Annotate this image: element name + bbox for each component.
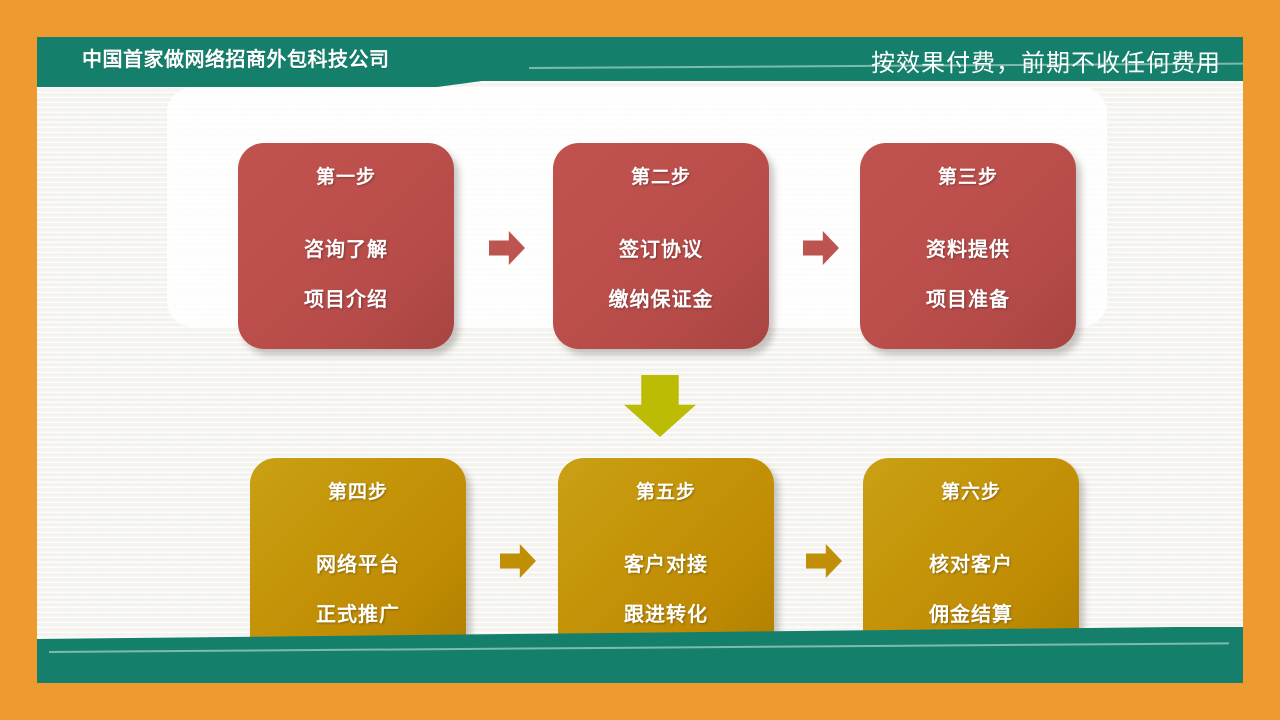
step-card-4-title: 第四步: [250, 480, 466, 506]
step-card-1-body: 咨询了解 项目介绍: [238, 225, 454, 325]
step-card-1-line1: 咨询了解: [238, 225, 454, 275]
step-card-4[interactable]: 第四步 网络平台 正式推广: [250, 458, 466, 664]
arrow-right-icon: [806, 544, 842, 578]
step-card-5-body: 客户对接 跟进转化: [558, 540, 774, 640]
step-card-1-title: 第一步: [238, 165, 454, 191]
slide-canvas: 中国首家做网络招商外包科技公司 第一步 咨询了解 项目介绍 第二步 签订协议 缴…: [37, 37, 1243, 683]
step-card-2-line1: 签订协议: [553, 225, 769, 275]
footer-hairline-divider: [49, 642, 1229, 653]
arrow-right-icon: [500, 544, 536, 578]
step-card-6-line1: 核对客户: [863, 540, 1079, 590]
slide-root: 中国首家做网络招商外包科技公司 第一步 咨询了解 项目介绍 第二步 签订协议 缴…: [0, 0, 1280, 720]
step-card-3-body: 资料提供 项目准备: [860, 225, 1076, 325]
step-card-4-body: 网络平台 正式推广: [250, 540, 466, 640]
step-card-5-line1: 客户对接: [558, 540, 774, 590]
step-card-3[interactable]: 第三步 资料提供 项目准备: [860, 143, 1076, 349]
step-card-6-body: 核对客户 佣金结算: [863, 540, 1079, 640]
footer-tagline: 按效果付费，前期不收任何费用: [871, 43, 1221, 85]
step-card-1-line2: 项目介绍: [238, 275, 454, 325]
step-card-2-title: 第二步: [553, 165, 769, 191]
step-card-6-title: 第六步: [863, 480, 1079, 506]
step-card-3-line1: 资料提供: [860, 225, 1076, 275]
step-card-2[interactable]: 第二步 签订协议 缴纳保证金: [553, 143, 769, 349]
step-card-4-line2: 正式推广: [250, 590, 466, 640]
step-card-1[interactable]: 第一步 咨询了解 项目介绍: [238, 143, 454, 349]
page-title: 中国首家做网络招商外包科技公司: [82, 43, 390, 77]
arrow-down-icon: [624, 375, 696, 437]
footer-banner: [37, 627, 1243, 683]
step-card-2-line2: 缴纳保证金: [553, 275, 769, 325]
step-card-3-line2: 项目准备: [860, 275, 1076, 325]
step-card-2-body: 签订协议 缴纳保证金: [553, 225, 769, 325]
step-card-4-line1: 网络平台: [250, 540, 466, 590]
step-card-3-title: 第三步: [860, 165, 1076, 191]
step-card-5-title: 第五步: [558, 480, 774, 506]
